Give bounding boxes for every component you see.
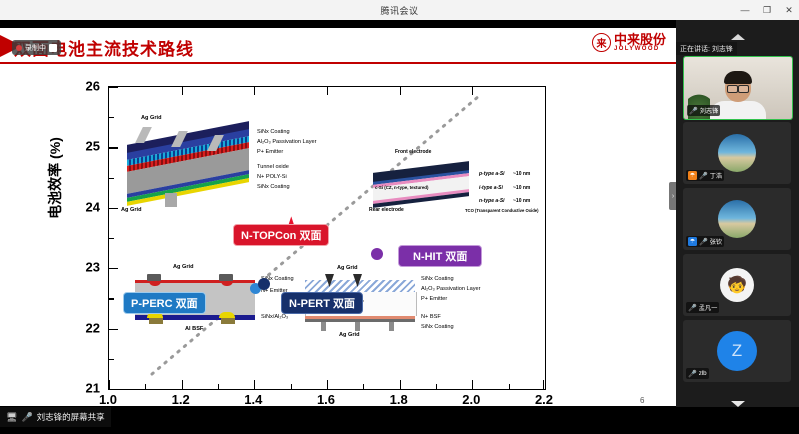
logo-mark-icon: 来 xyxy=(592,33,611,52)
npert-top-label: Ag Grid xyxy=(337,265,358,271)
x-tick-2-0: 2.0 xyxy=(449,392,493,407)
recording-badge[interactable]: 录制中 xyxy=(12,40,61,55)
x-tick-1-0: 1.0 xyxy=(86,392,130,407)
participant-tile-0[interactable]: 🎤 刘志锋 xyxy=(683,56,793,120)
maximize-icon[interactable]: ❐ xyxy=(761,5,773,16)
participant-tile-4[interactable]: Z 🎤 zlb xyxy=(683,320,791,382)
screen-icon: 🖥 xyxy=(6,412,17,423)
participant-tile-1[interactable]: ☂ 🎤 丁浩 xyxy=(683,122,791,184)
x-tick-1-4: 1.4 xyxy=(231,392,275,407)
y-tick-26: 26 xyxy=(58,79,100,94)
participant-name-0: 刘志锋 xyxy=(700,106,719,115)
participant-nametag-1: ☂ 🎤 丁浩 xyxy=(686,170,724,181)
label-chip-n-topcon[interactable]: N-TOPCon 双面 xyxy=(233,224,329,246)
recording-dot-icon xyxy=(16,45,22,51)
x-tick-1-6: 1.6 xyxy=(304,392,348,407)
window-controls: — ❐ ✕ xyxy=(739,0,795,20)
mic-muted-icon: 🎤 xyxy=(688,304,697,312)
hit-layer-n-type: n-type a-Si xyxy=(479,198,505,204)
stop-recording-icon[interactable] xyxy=(49,44,57,52)
y-tick-24: 24 xyxy=(58,199,100,214)
x-tick-1-8: 1.8 xyxy=(377,392,421,407)
pperc-top-label: Ag Grid xyxy=(173,264,194,270)
topcon-layer-5: SiNx Coating xyxy=(257,184,290,190)
mic-on-icon: 🎤 xyxy=(689,107,698,115)
y-tick-23: 23 xyxy=(58,260,100,275)
slide-header: 双面电池主流技术路线 来 中来股份 JOLYWOOD xyxy=(0,28,676,64)
hit-front-electrode: Front electrode xyxy=(395,149,431,155)
chevron-up-icon xyxy=(731,34,745,40)
minimize-icon[interactable]: — xyxy=(739,5,751,15)
close-icon[interactable]: ✕ xyxy=(783,5,795,16)
y-tick-25: 25 xyxy=(58,139,100,154)
mic-muted-icon: 🎤 xyxy=(699,238,708,246)
topcon-top-label: Ag Grid xyxy=(141,115,162,121)
hit-wafer-label: c-Si (CZ, n-type, textured) xyxy=(375,185,428,190)
participant-nametag-2: ☂ 🎤 张钦 xyxy=(686,236,724,247)
hair xyxy=(724,71,752,84)
data-point-n-hit[interactable] xyxy=(371,248,383,260)
participant-name-4: zlb xyxy=(699,370,707,377)
pperc-right-label-2: SiNx/Al₂O₃ xyxy=(261,314,288,320)
avatar-cartoon-image: 🧒 xyxy=(720,268,754,302)
avatar-globe-image xyxy=(718,200,756,238)
participant-nametag-0: 🎤 刘志锋 xyxy=(687,105,720,116)
screen-share-label: 刘志锋的屏幕共享 xyxy=(37,411,105,423)
slide-page-number: 6 xyxy=(640,396,644,405)
topcon-layer-3: Tunnel oxide xyxy=(257,164,289,170)
hit-layer-i-type-thickness: ~10 nm xyxy=(513,185,530,191)
window-titlebar: 腾讯会议 — ❐ ✕ xyxy=(0,0,799,20)
hit-rear-electrode: Rear electrode xyxy=(369,207,404,213)
label-chip-p-perc[interactable]: P-PERC 双面 xyxy=(123,292,206,314)
participant-name-2: 张钦 xyxy=(710,237,722,246)
mic-icon: 🎤 xyxy=(21,412,32,423)
hit-layer-p-type-thickness: ~10 nm xyxy=(513,171,530,177)
npert-right-label-4: SiNx Coating xyxy=(421,324,454,330)
topcon-layer-0: SiNx Coating xyxy=(257,129,290,135)
x-tick-1-2: 1.2 xyxy=(159,392,203,407)
data-point-n-pert[interactable] xyxy=(258,278,270,290)
logo-name-en: JOLYWOOD xyxy=(614,46,666,52)
hit-layer-i-type: i-type a-Si xyxy=(479,185,503,191)
tencent-meeting-window: 腾讯会议 — ❐ ✕ 双面电池主流技术路线 来 中来股份 JOLYWOOD xyxy=(0,0,799,427)
npert-right-label-0: SiNx Coating xyxy=(421,276,454,282)
diagram-n-topcon: Ag Grid Ag Grid SiNx Coating Al₂O₃ Passi… xyxy=(119,109,299,219)
label-chip-n-pert[interactable]: N-PERT 双面 xyxy=(281,292,363,314)
speaking-status: 正在讲话: 刘志锋 xyxy=(676,42,737,55)
participant-nametag-4: 🎤 zlb xyxy=(686,368,709,379)
participant-nametag-3: 🎤 孟凡一 xyxy=(686,302,719,313)
avatar-globe-image xyxy=(718,134,756,172)
participant-name-3: 孟凡一 xyxy=(699,303,718,312)
topcon-side-label: Ag Grid xyxy=(121,207,142,213)
hit-tco-label: TCO (Transparent Conductive Oxide) xyxy=(465,208,539,213)
npert-right-label-3: N+ BSF xyxy=(421,314,441,320)
topcon-layer-4: N+ POLY-Si xyxy=(257,174,287,180)
avatar-initial: Z xyxy=(717,331,757,371)
cohost-badge-icon: ☂ xyxy=(688,237,697,246)
participant-name-1: 丁浩 xyxy=(710,171,722,180)
topcon-layer-1: Al₂O₃ Passivation Layer xyxy=(257,139,316,145)
glasses-icon xyxy=(727,85,749,91)
logo-name-cn: 中来股份 xyxy=(614,33,666,46)
npert-right-label-2: P+ Emitter xyxy=(421,296,447,302)
participant-tile-2[interactable]: ☂ 🎤 张钦 xyxy=(683,188,791,250)
hit-layer-n-type-thickness: ~10 nm xyxy=(513,198,530,204)
rail-scroll-up-button[interactable] xyxy=(676,20,799,42)
y-major-tick xyxy=(109,389,118,390)
scatter-plot-area: Ag Grid Ag Grid SiNx Coating Al₂O₃ Passi… xyxy=(108,86,546,390)
screen-share-status: 🖥 🎤 刘志锋的屏幕共享 xyxy=(0,407,111,427)
mic-muted-icon: 🎤 xyxy=(688,370,697,378)
participant-tile-3[interactable]: 🧒 🎤 孟凡一 xyxy=(683,254,791,316)
y-tick-22: 22 xyxy=(58,320,100,335)
header-divider xyxy=(0,62,676,64)
npert-bottom-label: Ag Grid xyxy=(339,332,360,338)
bottom-bar: 🖥 🎤 刘志锋的屏幕共享 xyxy=(0,407,799,427)
diagram-n-hit: Front electrode c-Si (CZ, n-type, textur… xyxy=(361,145,541,225)
presentation-slide: 双面电池主流技术路线 来 中来股份 JOLYWOOD 录制中 电池效率 (%) … xyxy=(0,28,676,406)
company-logo: 来 中来股份 JOLYWOOD xyxy=(592,33,666,52)
x-tick-2-2: 2.2 xyxy=(522,392,566,407)
hit-layer-p-type: p-type a-Si xyxy=(479,171,505,177)
label-chip-n-hit[interactable]: N-HIT 双面 xyxy=(398,245,482,267)
npert-right-label-1: Al₂O₃ Passivation Layer xyxy=(421,286,480,292)
pperc-bottom-label: Al BSF xyxy=(185,326,203,332)
mic-muted-icon: 🎤 xyxy=(699,172,708,180)
shared-screen-stage: 双面电池主流技术路线 来 中来股份 JOLYWOOD 录制中 电池效率 (%) … xyxy=(0,20,676,407)
host-badge-icon: ☂ xyxy=(688,171,697,180)
recording-label: 录制中 xyxy=(25,43,46,53)
participant-rail: 正在讲话: 刘志锋 🎤 刘志锋 ☂ 🎤 丁浩 xyxy=(676,20,799,407)
topcon-layer-2: P+ Emitter xyxy=(257,149,283,155)
window-title: 腾讯会议 xyxy=(380,4,418,17)
